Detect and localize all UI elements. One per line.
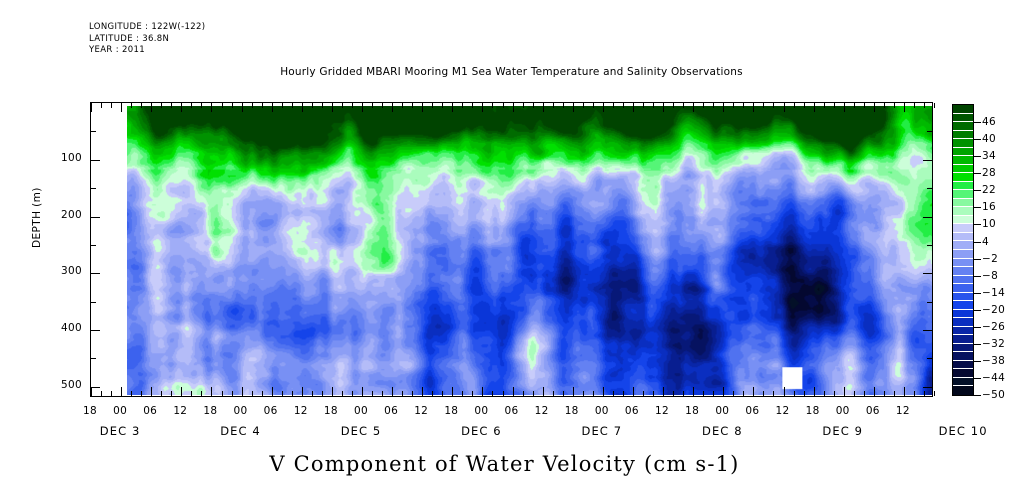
x-axis-hour-label: 12 xyxy=(173,405,187,417)
x-axis-day-label: DEC 8 xyxy=(702,424,743,438)
x-axis-hour-label: 06 xyxy=(505,405,519,417)
x-axis-day-label: DEC 5 xyxy=(341,424,382,438)
x-axis-hour-label: 18 xyxy=(83,405,97,417)
colorbar-tick xyxy=(974,156,981,157)
colorbar-label: −2 xyxy=(982,253,998,265)
station-metadata: LONGITUDE : 122W(-122) LATITUDE : 36.8N … xyxy=(89,22,205,57)
x-axis-hour-label: 00 xyxy=(836,405,850,417)
x-axis-day-label: DEC 7 xyxy=(581,424,622,438)
latitude-line: LATITUDE : 36.8N xyxy=(89,34,169,44)
x-axis-hour-label: 18 xyxy=(685,405,699,417)
colorbar-tick xyxy=(974,361,981,362)
x-axis-hour-label: 06 xyxy=(625,405,639,417)
colorbar-label: −32 xyxy=(982,338,1005,350)
colorbar-label: 22 xyxy=(982,184,996,196)
colorbar-tick xyxy=(974,207,981,208)
x-axis-hour-label: 12 xyxy=(655,405,669,417)
x-axis-hour-label: 00 xyxy=(354,405,368,417)
colorbar-label: 4 xyxy=(982,236,989,248)
colorbar-label: 16 xyxy=(982,201,996,213)
colorbar-tick xyxy=(974,276,981,277)
x-axis-hour-label: 00 xyxy=(474,405,488,417)
colorbar-label: −50 xyxy=(982,389,1005,401)
colorbar-tick xyxy=(974,395,981,396)
colorbar-tick xyxy=(974,378,981,379)
colorbar-tick xyxy=(974,327,981,328)
y-axis-title: DEPTH (m) xyxy=(31,187,43,248)
x-axis-day-label: DEC 6 xyxy=(461,424,502,438)
year-line: YEAR : 2011 xyxy=(89,45,145,55)
y-axis-label: 100 xyxy=(52,152,82,164)
x-axis-hour-label: 18 xyxy=(444,405,458,417)
colorbar-label: 10 xyxy=(982,218,996,230)
x-axis-hour-label: 06 xyxy=(866,405,880,417)
y-axis-labels: 100200300400500 xyxy=(0,102,1009,397)
colorbar-ticks: 464034282216104−2−8−14−20−26−32−38−44−50 xyxy=(952,104,1009,396)
x-axis-hour-label: 06 xyxy=(143,405,157,417)
x-axis-hour-label: 12 xyxy=(535,405,549,417)
x-axis-hour-label: 06 xyxy=(384,405,398,417)
colorbar-label: 34 xyxy=(982,150,996,162)
colorbar-tick xyxy=(974,242,981,243)
plot-title: Hourly Gridded MBARI Mooring M1 Sea Wate… xyxy=(90,66,933,78)
x-axis-day-labels: DEC 3DEC 4DEC 5DEC 6DEC 7DEC 8DEC 9DEC 1… xyxy=(0,424,1009,440)
colorbar-label: −8 xyxy=(982,270,998,282)
x-axis-hour-label: 06 xyxy=(745,405,759,417)
y-axis-label: 200 xyxy=(52,209,82,221)
x-axis-hour-label: 18 xyxy=(324,405,338,417)
colorbar-tick xyxy=(974,259,981,260)
x-axis-hour-label: 18 xyxy=(203,405,217,417)
x-axis-hour-label: 06 xyxy=(264,405,278,417)
colorbar-tick xyxy=(974,310,981,311)
x-axis-hour-label: 18 xyxy=(806,405,820,417)
x-axis-hour-label: 00 xyxy=(234,405,248,417)
colorbar-label: 40 xyxy=(982,133,996,145)
x-axis-hour-label: 18 xyxy=(565,405,579,417)
y-axis-label: 300 xyxy=(52,265,82,277)
y-axis-label: 400 xyxy=(52,322,82,334)
longitude-line: LONGITUDE : 122W(-122) xyxy=(89,22,205,32)
colorbar-tick xyxy=(974,190,981,191)
colorbar-label: 28 xyxy=(982,167,996,179)
x-axis-day-label: DEC 3 xyxy=(100,424,141,438)
colorbar-label: −14 xyxy=(982,287,1005,299)
x-axis-day-label: DEC 4 xyxy=(220,424,261,438)
colorbar-label: −44 xyxy=(982,372,1005,384)
colorbar-label: −38 xyxy=(982,355,1005,367)
x-axis-hour-label: 12 xyxy=(414,405,428,417)
colorbar-tick xyxy=(974,344,981,345)
x-axis-hour-label: 12 xyxy=(294,405,308,417)
x-axis-day-label: DEC 9 xyxy=(822,424,863,438)
colorbar-tick xyxy=(974,139,981,140)
x-axis-hour-label: 00 xyxy=(113,405,127,417)
x-axis-day-label: DEC 10 xyxy=(939,424,988,438)
colorbar-tick xyxy=(974,173,981,174)
colorbar-tick xyxy=(974,122,981,123)
colorbar-label: 46 xyxy=(982,116,996,128)
x-axis-hour-label: 00 xyxy=(595,405,609,417)
colorbar-tick xyxy=(974,293,981,294)
figure-caption: V Component of Water Velocity (cm s-1) xyxy=(0,452,1009,476)
x-axis-hour-label: 12 xyxy=(896,405,910,417)
colorbar-label: −20 xyxy=(982,304,1005,316)
y-axis-label: 500 xyxy=(52,379,82,391)
colorbar-tick xyxy=(974,224,981,225)
x-axis-hour-labels: 1800061218000612180006121800061218000612… xyxy=(0,405,1009,419)
figure-canvas: LONGITUDE : 122W(-122) LATITUDE : 36.8N … xyxy=(0,0,1009,504)
x-axis-hour-label: 12 xyxy=(776,405,790,417)
x-axis-hour-label: 00 xyxy=(715,405,729,417)
colorbar-label: −26 xyxy=(982,321,1005,333)
